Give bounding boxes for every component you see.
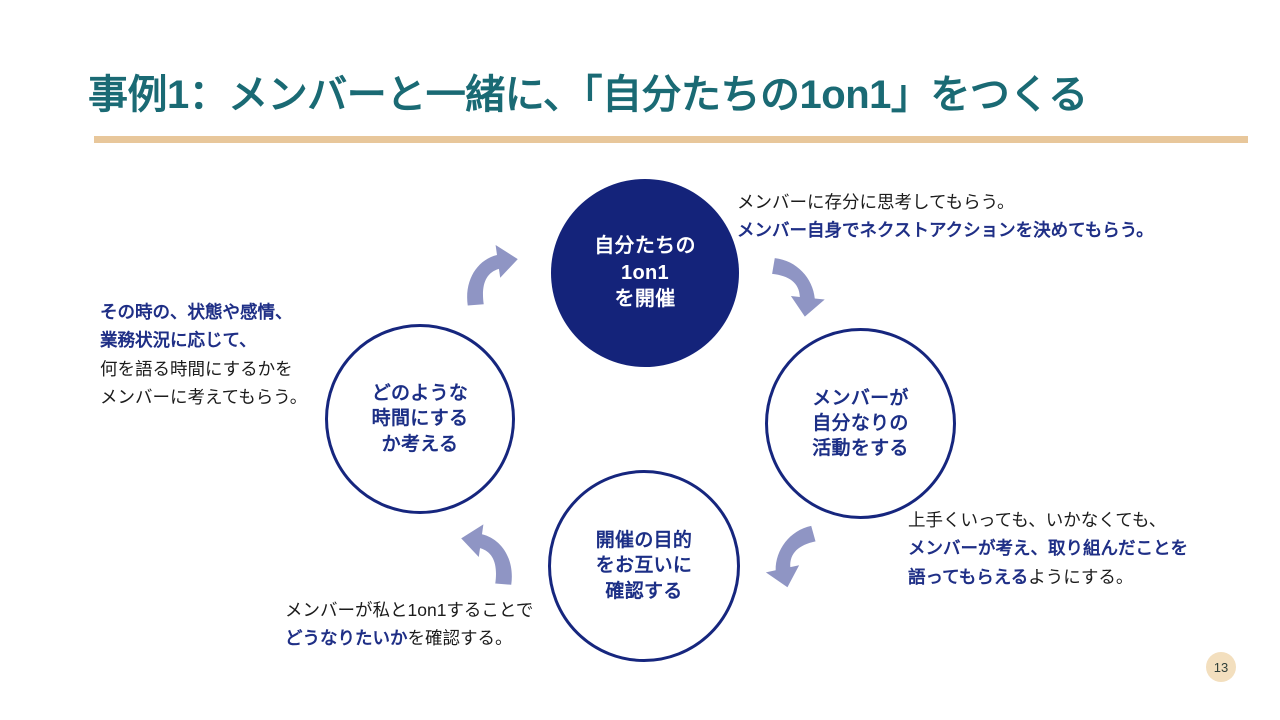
callout-left-line-3: 何を語る時間にするかを xyxy=(100,355,307,383)
cycle-arrow-down-right-icon xyxy=(768,255,834,317)
callout-bottom-right: 上手くいっても、いかなくても、 メンバーが考え、取り組んだことを 語ってもらえる… xyxy=(908,506,1188,591)
cycle-node-top-line-3: を開催 xyxy=(615,286,676,312)
title-divider xyxy=(94,136,1248,143)
cycle-arrow-up-right-icon xyxy=(458,246,524,308)
callout-left-line-1: その時の、状態や感情、 xyxy=(100,298,307,326)
callout-top-right-line-2: メンバー自身でネクストアクションを決めてもらう。 xyxy=(737,216,1154,244)
cycle-node-bottom-line-1: 開催の目的 xyxy=(596,528,693,553)
cycle-arrow-up-left-icon xyxy=(453,525,519,587)
cycle-node-top-line-2: 1on1 xyxy=(621,260,669,286)
cycle-node-right-line-3: 活動をする xyxy=(812,436,909,461)
callout-left-line-2: 業務状況に応じて、 xyxy=(100,326,307,354)
slide-canvas: 事例1：メンバーと一緒に、「自分たちの1on1」をつくる 自分たちの 1on1 … xyxy=(0,0,1280,720)
cycle-node-bottom-line-3: 確認する xyxy=(605,579,682,604)
callout-top-right: メンバーに存分に思考してもらう。 メンバー自身でネクストアクションを決めてもらう… xyxy=(737,188,1154,245)
callout-left: その時の、状態や感情、 業務状況に応じて、 何を語る時間にするかを メンバーに考… xyxy=(100,298,307,411)
page-title: 事例1：メンバーと一緒に、「自分たちの1on1」をつくる xyxy=(88,72,1088,118)
cycle-arrow-down-left-icon xyxy=(757,525,823,587)
callout-bottom-left-line-2: どうなりたいかを確認する。 xyxy=(285,624,533,652)
cycle-node-top[interactable]: 自分たちの 1on1 を開催 xyxy=(551,179,739,367)
callout-top-right-line-1: メンバーに存分に思考してもらう。 xyxy=(737,188,1154,216)
cycle-node-left-line-1: どのような xyxy=(372,381,469,406)
cycle-node-bottom[interactable]: 開催の目的 をお互いに 確認する xyxy=(548,470,740,662)
callout-bottom-left-line-1: メンバーが私と1on1することで xyxy=(285,596,533,624)
cycle-node-right-line-2: 自分なりの xyxy=(812,411,909,436)
cycle-node-top-line-1: 自分たちの xyxy=(594,233,696,259)
callout-bottom-right-line-3: 語ってもらえるようにする。 xyxy=(908,563,1188,591)
callout-bottom-right-line-1: 上手くいっても、いかなくても、 xyxy=(908,506,1188,534)
cycle-node-left-line-3: か考える xyxy=(382,432,459,457)
cycle-node-right-line-1: メンバーが xyxy=(812,386,909,411)
page-number-badge: 13 xyxy=(1206,652,1236,682)
callout-bottom-right-line-2: メンバーが考え、取り組んだことを xyxy=(908,534,1188,562)
cycle-node-left[interactable]: どのような 時間にする か考える xyxy=(325,324,515,514)
cycle-node-bottom-line-2: をお互いに xyxy=(596,553,693,578)
cycle-node-left-line-2: 時間にする xyxy=(372,406,469,431)
callout-bottom-left: メンバーが私と1on1することで どうなりたいかを確認する。 xyxy=(285,596,533,653)
callout-left-line-4: メンバーに考えてもらう。 xyxy=(100,383,307,411)
cycle-node-right[interactable]: メンバーが 自分なりの 活動をする xyxy=(765,328,956,519)
